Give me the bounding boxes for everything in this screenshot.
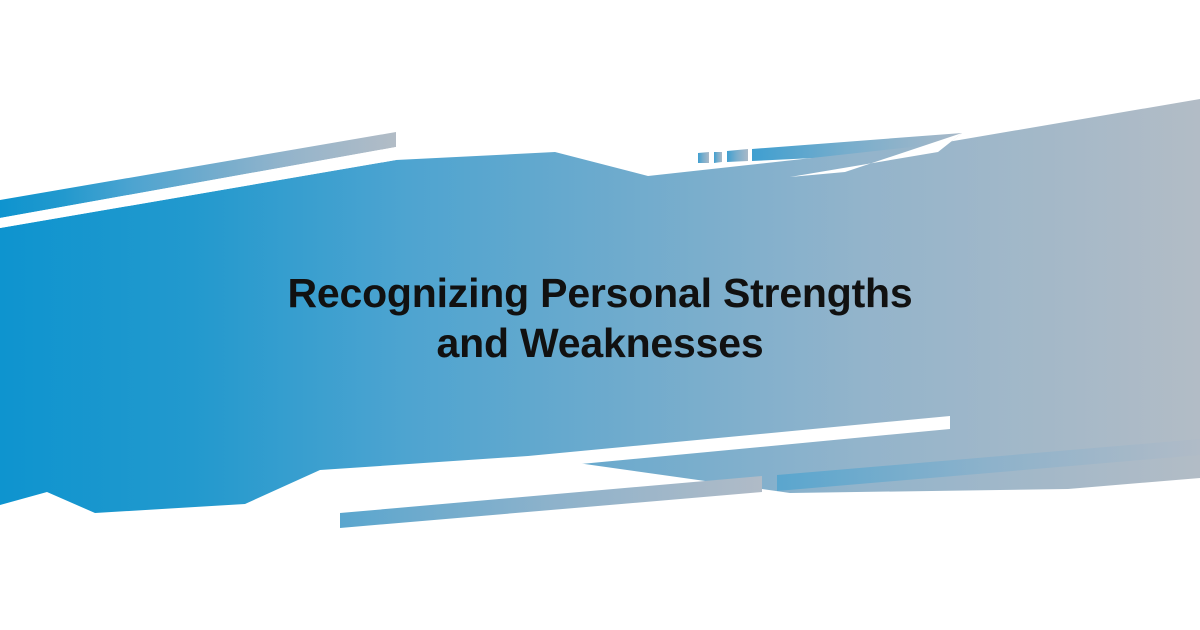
top-right-dash-small <box>698 152 709 163</box>
top-right-dash-medium <box>714 152 722 163</box>
banner-background-graphic <box>0 0 1200 630</box>
top-right-dash-long <box>727 149 748 162</box>
banner-card: Recognizing Personal Strengths and Weakn… <box>0 0 1200 630</box>
